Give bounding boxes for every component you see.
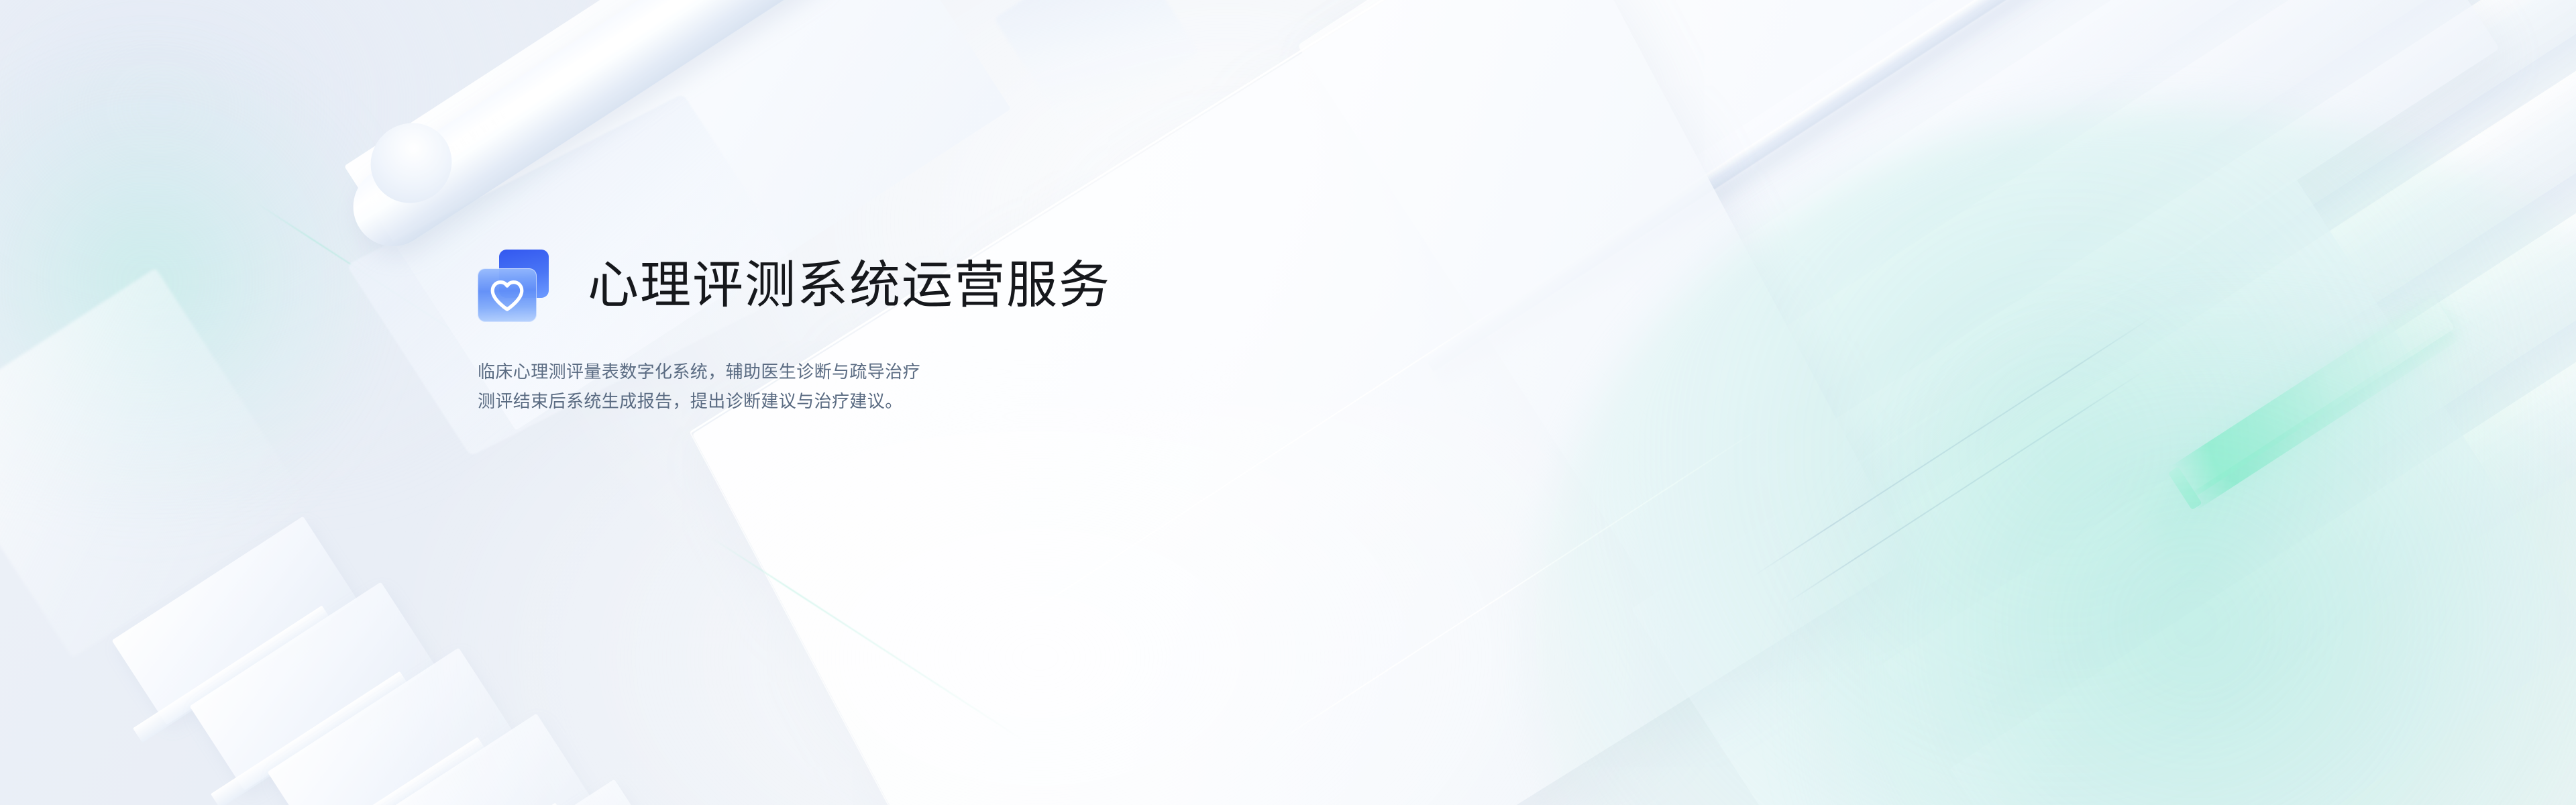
subtitle-line-2: 测评结束后系统生成报告，提出诊断建议与治疗建议。 <box>478 386 1484 416</box>
page-subtitle: 临床心理测评量表数字化系统，辅助医生诊断与疏导治疗 测评结束后系统生成报告，提出… <box>478 357 1484 416</box>
subtitle-line-1: 临床心理测评量表数字化系统，辅助医生诊断与疏导治疗 <box>478 357 1484 386</box>
scroll-notch <box>994 0 1199 137</box>
heart-outline-icon <box>490 280 525 311</box>
page-title: 心理评测系统运营服务 <box>588 259 1111 313</box>
heart-card-icon <box>478 250 549 322</box>
hero-banner: 心理评测系统运营服务 临床心理测评量表数字化系统，辅助医生诊断与疏导治疗 测评结… <box>0 0 2576 805</box>
hero-content: 心理评测系统运营服务 临床心理测评量表数字化系统，辅助医生诊断与疏导治疗 测评结… <box>478 250 1484 416</box>
icon-front-card <box>478 268 537 322</box>
title-row: 心理评测系统运营服务 <box>478 250 1484 322</box>
